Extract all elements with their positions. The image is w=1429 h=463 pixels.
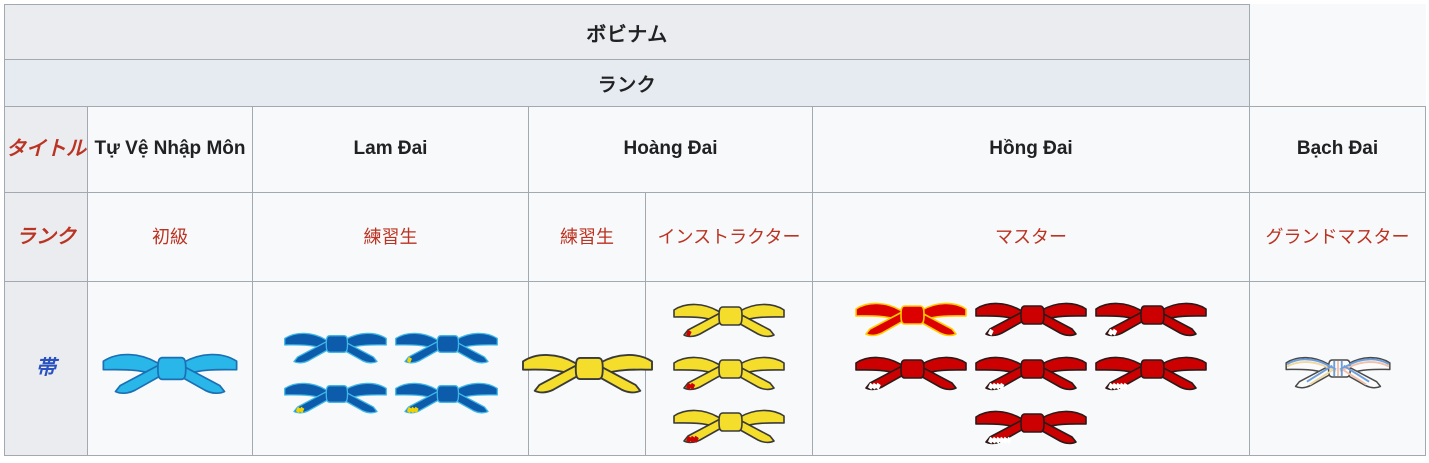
table-subtitle: ランク (5, 60, 1250, 107)
belt-cell-bach-dai (1250, 282, 1426, 456)
column-header-lam-dai: Lam Đai (253, 107, 529, 193)
sky-blue-belt-icon (98, 337, 242, 400)
red-belt-3-stripe-icon (852, 343, 970, 395)
rank-cell-master: マスター (813, 193, 1250, 282)
rank-cell-instructor: インストラクター (646, 193, 813, 282)
belt-cell-hoang-dai (529, 282, 646, 456)
blue-belt-3-stripe-icon (392, 370, 501, 418)
rank-label: グランドマスター (1266, 227, 1410, 247)
rank-label: 練習生 (364, 227, 418, 247)
red-belt-2-stripe-icon (1092, 289, 1210, 341)
red-belt-1-stripe-icon (972, 289, 1090, 341)
belt-cell-lam-dai (253, 282, 529, 456)
column-title-label: Tự Vệ Nhập Môn (95, 138, 246, 159)
belt-group-self-defence (88, 337, 252, 400)
row-header-belt-label: 帯 (36, 355, 56, 382)
vovinam-rank-table: ボビナム ランク タイトル Tự Vệ Nhập Môn Lam Đai Hoà… (4, 4, 1426, 456)
belt-cell-self-defence (88, 282, 253, 456)
rank-cell-grandmaster: グランドマスター (1250, 193, 1426, 282)
row-header-title-label: タイトル (6, 136, 86, 163)
title-row: タイトル Tự Vệ Nhập Môn Lam Đai Hoàng Đai Hồ… (5, 107, 1426, 193)
column-header-hong-dai: Hồng Đai (813, 107, 1250, 193)
yellow-belt-3-stripe-icon (670, 396, 788, 448)
rank-table-container: ボビナム ランク タイトル Tự Vệ Nhập Môn Lam Đai Hoà… (4, 0, 1425, 456)
row-header-title: タイトル (5, 107, 88, 193)
rank-label: インストラクター (658, 227, 801, 247)
column-header-bach-dai: Bạch Đai (1250, 107, 1426, 193)
rank-cell-renshusei-lam: 練習生 (253, 193, 529, 282)
table-title: ボビナム (5, 5, 1250, 60)
column-title-label: Hoàng Đai (624, 138, 718, 159)
rank-label: 練習生 (560, 227, 614, 247)
table-subtitle-row: ランク (5, 60, 1426, 107)
rank-cell-shokyu: 初級 (88, 193, 253, 282)
blue-belt-1-stripe-icon (392, 320, 501, 368)
blue-belt-plain-icon (281, 320, 390, 368)
row-header-rank-label: ランク (16, 224, 76, 251)
belt-cell-hong-dai (813, 282, 1250, 456)
belt-group-bach-dai (1250, 344, 1425, 393)
row-header-belt: 帯 (5, 282, 88, 456)
table-title-row: ボビナム (5, 5, 1426, 60)
yellow-belt-2-stripe-icon (670, 343, 788, 395)
column-header-hoang-dai: Hoàng Đai (529, 107, 813, 193)
rank-cell-renshusei-hoang: 練習生 (529, 193, 646, 282)
rank-label: マスター (995, 227, 1067, 247)
belt-cell-hoang-dai-instructor (646, 282, 813, 456)
rank-row: ランク 初級 練習生 練習生 インストラクター マスター グラン (5, 193, 1426, 282)
belt-group-hoang-dai-instructor (646, 290, 812, 448)
row-header-rank: ランク (5, 193, 88, 282)
rank-label: 初級 (152, 227, 188, 247)
white-belt-striped-icon (1282, 344, 1394, 393)
column-header-tu-ve-nhap-mon: Tự Vệ Nhập Môn (88, 107, 253, 193)
column-title-label: Hồng Đai (989, 138, 1072, 159)
red-belt-6-stripe-icon (972, 397, 1090, 449)
belt-group-hoang-dai (529, 338, 645, 399)
column-title-label: Lam Đai (354, 138, 428, 159)
belt-group-lam-dai (266, 320, 516, 418)
red-belt-5-stripe-icon (1092, 343, 1210, 395)
yellow-belt-plain-icon (518, 338, 657, 399)
yellow-belt-1-stripe-icon (670, 290, 788, 342)
blue-belt-2-stripe-icon (281, 370, 390, 418)
belt-row: 帯 (5, 282, 1426, 456)
column-title-label: Bạch Đai (1297, 138, 1378, 159)
red-belt-gold-outline-icon (852, 289, 970, 341)
belt-group-hong-dai (821, 289, 1241, 449)
red-belt-4-stripe-icon (972, 343, 1090, 395)
